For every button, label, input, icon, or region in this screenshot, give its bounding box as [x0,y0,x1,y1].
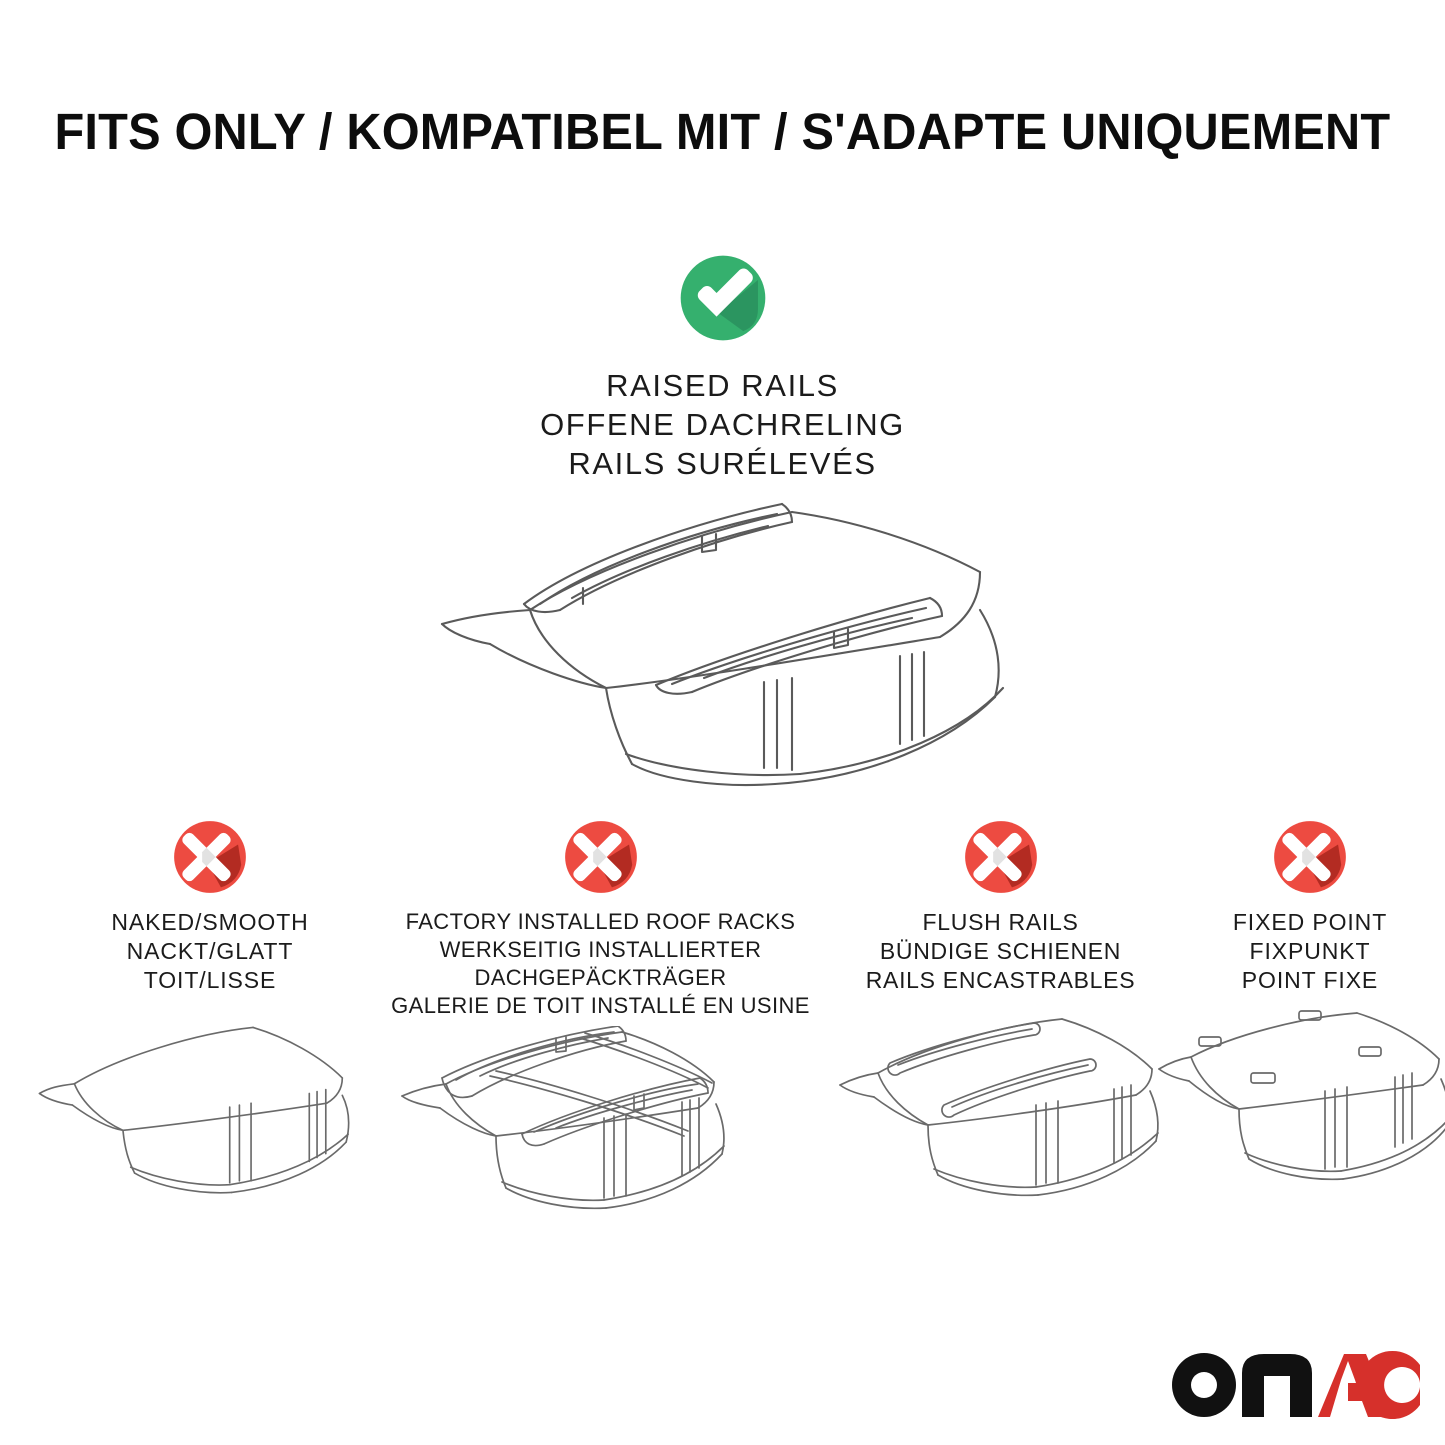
label-fr-2: GALERIE DE TOIT INSTALLÉ EN USINE [378,992,823,1020]
incompatible-item-fixed-point: FIXED POINT FIXPUNKT POINT FIXE [1175,818,1445,1231]
incompatible-labels-1: NAKED/SMOOTH NACKT/GLATT TOIT/LISSE [40,908,380,995]
car-roof-factory-rack-illustration [384,1026,734,1256]
red-x-circle-icon [562,818,640,896]
compatible-label-en: RAISED RAILS [0,366,1445,405]
compatible-label-de: OFFENE DACHRELING [0,405,1445,444]
incompatible-labels-2: FACTORY INSTALLED ROOF RACKS WERKSEITIG … [378,908,823,1020]
label-de-3: BÜNDIGE SCHIENEN [828,937,1173,966]
label-fr-1: TOIT/LISSE [40,966,380,995]
incompatible-section: NAKED/SMOOTH NACKT/GLATT TOIT/LISSE [0,818,1445,1288]
incompatible-labels-4: FIXED POINT FIXPUNKT POINT FIXE [1175,908,1445,995]
label-en-4: FIXED POINT [1175,908,1445,937]
omac-logo-letter-o [1172,1353,1236,1417]
red-x-circle-icon [1271,818,1349,896]
incompatible-labels-3: FLUSH RAILS BÜNDIGE SCHIENEN RAILS ENCAS… [828,908,1173,995]
car-roof-flush-rails-illustration [828,1009,1173,1231]
label-fr-4: POINT FIXE [1175,966,1445,995]
compatible-labels: RAISED RAILS OFFENE DACHRELING RAILS SUR… [0,366,1445,483]
red-x-circle-icon [962,818,1040,896]
label-fr-3: RAILS ENCASTRABLES [828,966,1173,995]
green-check-circle-icon [677,252,769,344]
car-roof-fixed-point-illustration [1151,1009,1445,1231]
red-x-circle-icon [171,818,249,896]
omac-logo: OMAC [1168,1343,1420,1427]
label-de-4: FIXPUNKT [1175,937,1445,966]
page-title: FITS ONLY / KOMPATIBEL MIT / S'ADAPTE UN… [55,103,1391,161]
incompatible-item-flush-rails: FLUSH RAILS BÜNDIGE SCHIENEN RAILS ENCAS… [828,818,1173,1231]
label-de2-2: DACHGEPÄCKTRÄGER [378,964,823,992]
label-en-1: NAKED/SMOOTH [40,908,380,937]
compatible-section: RAISED RAILS OFFENE DACHRELING RAILS SUR… [0,252,1445,483]
compatible-label-fr: RAILS SURÉLEVÉS [0,444,1445,483]
omac-logo-letter-m [1242,1354,1312,1417]
car-roof-raised-rails-illustration [420,492,1030,802]
omac-logo-text: OMAC [1168,1343,1216,1347]
car-roof-naked-smooth-illustration [22,1013,352,1238]
label-en-2: FACTORY INSTALLED ROOF RACKS [378,908,823,936]
label-en-3: FLUSH RAILS [828,908,1173,937]
incompatible-item-naked-smooth: NAKED/SMOOTH NACKT/GLATT TOIT/LISSE [40,818,380,1238]
compatibility-infographic: FITS ONLY / KOMPATIBEL MIT / S'ADAPTE UN… [0,0,1445,1445]
label-de-2: WERKSEITIG INSTALLIERTER [378,936,823,964]
incompatible-item-factory-rack: FACTORY INSTALLED ROOF RACKS WERKSEITIG … [378,818,823,1256]
label-de-1: NACKT/GLATT [40,937,380,966]
page-title-container: FITS ONLY / KOMPATIBEL MIT / S'ADAPTE UN… [0,103,1445,161]
